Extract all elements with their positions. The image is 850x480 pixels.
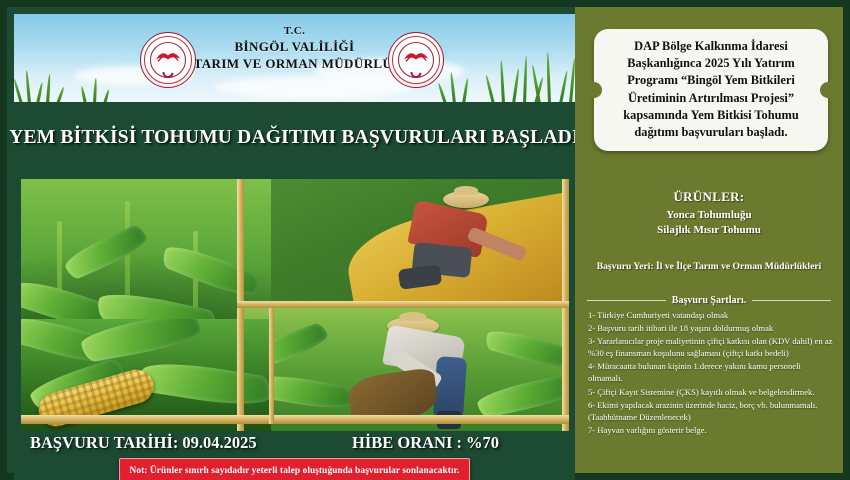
- emblem-leaf-icon: [155, 49, 181, 62]
- product-item: Silajlık Mısır Tohumu: [575, 223, 843, 238]
- cloud-shape: [214, 76, 414, 98]
- gold-divider-vertical: [269, 308, 274, 424]
- emblem-leaf-icon: [403, 49, 429, 62]
- page-title: YEM BİTKİSİ TOHUMU DAĞITIMI BAŞVURULARI …: [9, 127, 580, 149]
- poster-title-band: YEM BİTKİSİ TOHUMU DAĞITIMI BAŞVURULARI …: [14, 102, 575, 174]
- info-bar: BAŞVURU TARİHİ: 09.04.2025 HİBE ORANI : …: [14, 431, 575, 480]
- application-date: BAŞVURU TARİHİ: 09.04.2025: [30, 433, 257, 453]
- conditions-heading-label: Başvuru Şartları.: [672, 295, 746, 306]
- application-date-value: 09.04.2025: [182, 433, 256, 452]
- list-item: 6- Ekimi yapılacak arazinin üzerinde hac…: [588, 399, 833, 423]
- grant-rate: HİBE ORANI : %70: [352, 433, 499, 453]
- poster-root: T.C. BİNGÖL VALİLİĞİ İL TARIM VE ORMAN M…: [0, 0, 850, 480]
- right-column: DAP Bölge Kalkınma İdaresi Başkanlığınca…: [575, 0, 850, 480]
- limited-stock-note: Not: Ürünler sınırlı sayıdadır yeterli t…: [119, 458, 471, 480]
- list-item: 7- Hayvan varlığını gösterir belge.: [588, 424, 833, 436]
- directorate-label: İL TARIM VE ORMAN MÜDÜRLÜĞÜ: [14, 55, 575, 72]
- gold-divider-horizontal: [237, 301, 569, 308]
- products-section: ÜRÜNLER: Yonca Tohumluğu Silajlık Mısır …: [575, 189, 843, 238]
- divider-line: [752, 300, 831, 301]
- grant-rate-value: %70: [466, 433, 499, 452]
- province-label: BİNGÖL VALİLİĞİ: [14, 38, 575, 55]
- conditions-heading: Başvuru Şartları.: [587, 295, 831, 306]
- announcement-text: DAP Bölge Kalkınma İdaresi Başkanlığınca…: [603, 38, 819, 141]
- divider-line: [587, 300, 666, 301]
- gold-divider-horizontal: [21, 415, 569, 424]
- list-item: 1- Türkiye Cumhuriyeti vatandaşı olmak: [588, 309, 833, 321]
- application-date-label: BAŞVURU TARİHİ:: [30, 433, 178, 452]
- conditions-list: 1- Türkiye Cumhuriyeti vatandaşı olmak 2…: [588, 309, 833, 437]
- tc-label: T.C.: [14, 24, 575, 38]
- left-column: T.C. BİNGÖL VALİLİĞİ İL TARIM VE ORMAN M…: [0, 0, 575, 480]
- products-title: ÜRÜNLER:: [575, 189, 843, 205]
- ministry-emblem-icon: [388, 32, 444, 88]
- list-item: 4- Müracaatta bulunan kişinin 1.derece y…: [588, 360, 833, 384]
- photo-collage: [21, 179, 569, 431]
- ministry-emblem-icon: [140, 32, 196, 88]
- sky-banner: T.C. BİNGÖL VALİLİĞİ İL TARIM VE ORMAN M…: [14, 14, 575, 102]
- list-item: 3- Yararlanıcılar proje maliyetinin çift…: [588, 335, 833, 359]
- announcement-box: DAP Bölge Kalkınma İdaresi Başkanlığınca…: [594, 29, 828, 151]
- limited-stock-note-text: Not: Ürünler sınırlı sayıdadır yeterli t…: [130, 466, 460, 476]
- institution-heading: T.C. BİNGÖL VALİLİĞİ İL TARIM VE ORMAN M…: [14, 24, 575, 72]
- farmer-bending-in-field-photo: [239, 307, 569, 431]
- grant-rate-label: HİBE ORANI :: [352, 433, 462, 452]
- info-row: BAŞVURU TARİHİ: 09.04.2025 HİBE ORANI : …: [14, 433, 575, 453]
- straw-hat-icon: [443, 191, 489, 208]
- list-item: 2- Başvuru tarih itibari ile 18 yaşını d…: [588, 322, 833, 334]
- application-place: Başvuru Yeri: İl ve İlçe Tarım ve Orman …: [583, 261, 835, 272]
- product-item: Yonca Tohumluğu: [575, 208, 843, 223]
- list-item: 5- Çiftçi Kayıt Sistemine (ÇKS) kayıtlı …: [588, 386, 833, 398]
- farmer-with-grain-photo: [271, 179, 569, 307]
